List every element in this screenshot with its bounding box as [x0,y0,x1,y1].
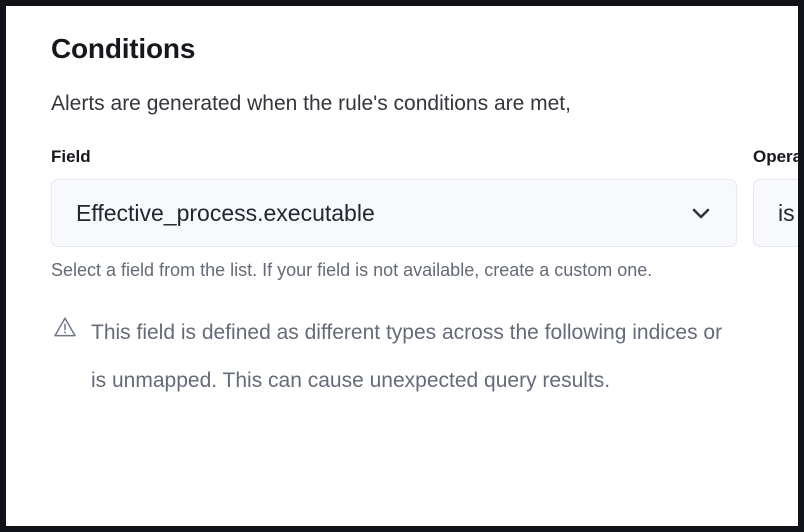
operator-label: Operator [753,146,798,168]
conditions-panel: Conditions Alerts are generated when the… [6,6,798,526]
field-warning-text: This field is defined as different types… [91,309,731,405]
field-select[interactable]: Effective_process.executable [51,179,737,247]
panel-description: Alerts are generated when the rule's con… [51,91,798,117]
operator-select-value: is [778,198,798,228]
warning-triangle-icon [53,315,77,339]
operator-select[interactable]: is [753,179,798,247]
field-label: Field [51,146,737,168]
chevron-down-icon[interactable] [686,198,716,228]
screenshot-frame: Conditions Alerts are generated when the… [0,0,804,532]
operator-column: Operator is [753,146,798,247]
page-title: Conditions [51,32,798,66]
field-select-value: Effective_process.executable [76,198,672,228]
field-helper-text: Select a field from the list. If your fi… [51,258,691,283]
field-warning: This field is defined as different types… [51,309,731,405]
field-column: Field Effective_process.executable [51,146,737,247]
condition-row: Field Effective_process.executable Opera… [51,146,798,247]
